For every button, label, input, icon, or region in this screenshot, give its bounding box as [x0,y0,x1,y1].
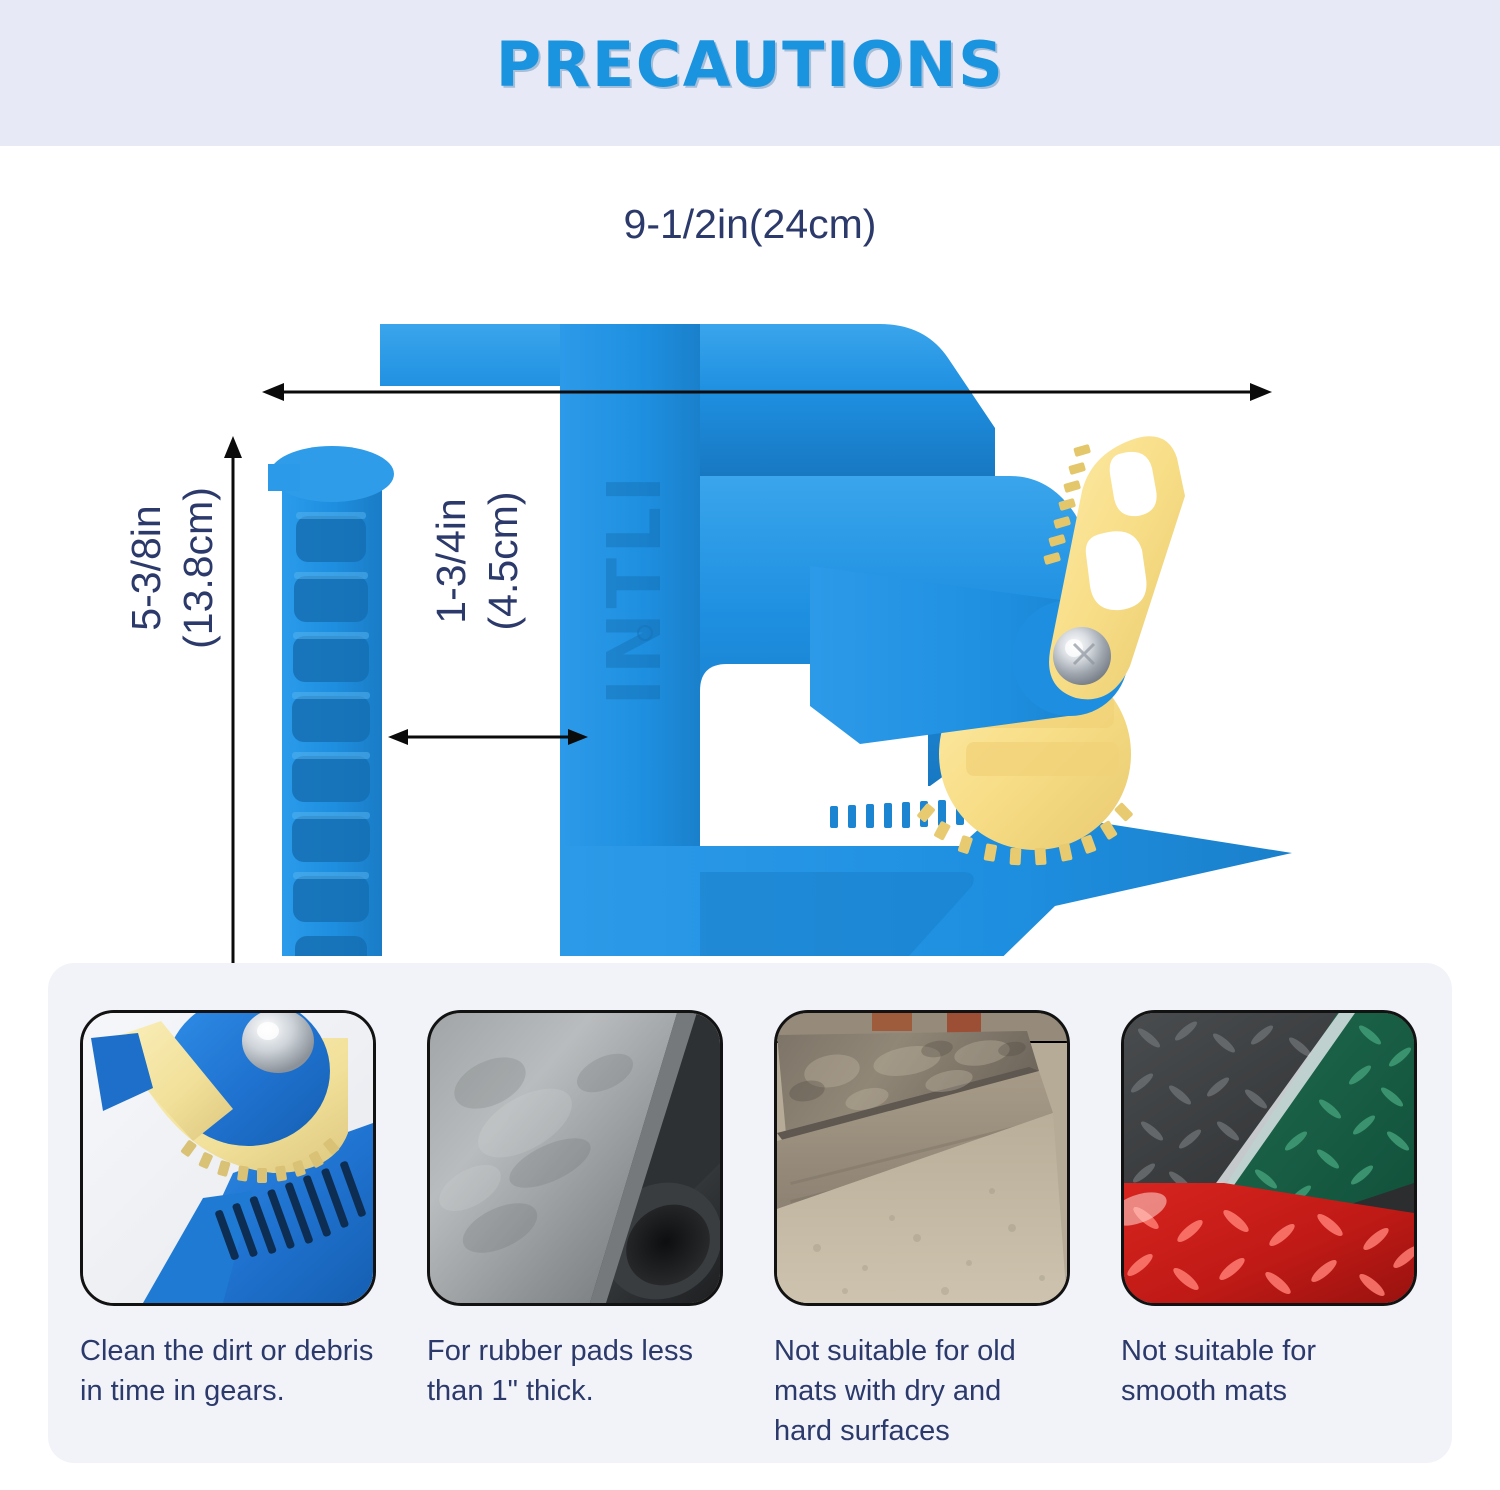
grip-slots [292,516,370,956]
product-dimension-diagram: INTLI [0,146,1500,956]
opening-dimension-label: 1-3/4in (4.5cm) [425,411,529,711]
width-dimension-label: 9-1/2in(24cm) [540,201,960,248]
precaution-card-list: Clean the dirt or debris in time in gear… [48,963,1452,1463]
precaution-caption: Not suitable for old mats with dry and h… [774,1331,1073,1451]
diamond-plate-mats-photo [1121,1010,1417,1306]
height-dimension-arrow [222,436,244,1026]
handle-ear [268,464,300,491]
page-title: PRECAUTIONS [0,28,1500,101]
gear-closeup-photo [80,1010,376,1306]
opening-dimension-arrow [388,726,588,748]
precaution-card: Clean the dirt or debris in time in gear… [56,963,403,1463]
rivet-highlight [1065,639,1083,657]
precaution-caption: Clean the dirt or debris in time in gear… [80,1331,379,1411]
precaution-card: Not suitable for old mats with dry and h… [750,963,1097,1463]
brand-emboss: INTLI [592,471,678,706]
rolled-rubber-mat-photo [427,1010,723,1306]
height-dimension-label: 5-3/8in (13.8cm) [120,378,224,758]
width-dimension-arrow [262,381,1272,403]
precaution-card: Not suitable for smooth mats [1097,963,1444,1463]
svg-text:INTLI: INTLI [592,471,678,706]
old-dry-mat-photo [774,1010,1070,1306]
precaution-caption: Not suitable for smooth mats [1121,1331,1420,1411]
precaution-caption: For rubber pads less than 1" thick. [427,1331,726,1411]
precaution-card: For rubber pads less than 1" thick. [403,963,750,1463]
